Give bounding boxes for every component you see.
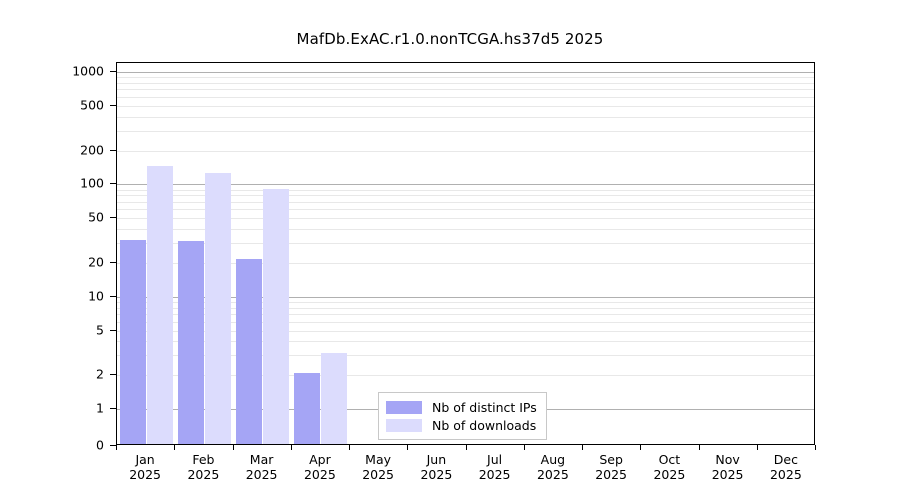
x-tick-year: 2025 — [362, 467, 394, 482]
x-tick-label: Dec2025 — [770, 452, 802, 482]
y-tick-label: 2 — [96, 367, 104, 382]
legend-item-downloads: Nb of downloads — [386, 416, 537, 434]
x-tick-mark — [233, 445, 234, 450]
x-tick-label: Jun2025 — [420, 452, 452, 482]
x-tick-mark — [174, 445, 175, 450]
x-tick-label: Sep2025 — [595, 452, 627, 482]
y-tick-label: 10 — [88, 288, 104, 303]
x-tick-year: 2025 — [420, 467, 452, 482]
gridline — [117, 83, 814, 84]
x-tick-mark — [291, 445, 292, 450]
y-tick-label: 200 — [80, 142, 104, 157]
gridline — [117, 72, 814, 73]
bar-ips-mar — [236, 259, 262, 445]
y-tick-label: 1000 — [72, 64, 104, 79]
gridline — [117, 77, 814, 78]
y-tick-label: 100 — [80, 176, 104, 191]
x-tick-month: Apr — [309, 452, 331, 467]
x-tick-month: Feb — [192, 452, 214, 467]
y-tick-label: 5 — [96, 322, 104, 337]
gridline — [117, 131, 814, 132]
x-tick-year: 2025 — [187, 467, 219, 482]
y-tick-label: 20 — [88, 254, 104, 269]
legend-label-downloads: Nb of downloads — [432, 418, 536, 433]
x-tick-month: May — [365, 452, 391, 467]
y-tick-label: 500 — [80, 97, 104, 112]
gridline — [117, 106, 814, 107]
y-tick-label: 50 — [88, 210, 104, 225]
x-tick-label: Nov2025 — [712, 452, 744, 482]
gridline — [117, 117, 814, 118]
x-tick-year: 2025 — [246, 467, 278, 482]
x-tick-label: Apr2025 — [304, 452, 336, 482]
y-axis-tick-labels: 01251020501002005001000 — [0, 0, 104, 500]
x-tick-label: Jan2025 — [129, 452, 161, 482]
bar-ips-jan — [120, 240, 146, 445]
x-tick-label: Jul2025 — [479, 452, 511, 482]
x-tick-month: Mar — [250, 452, 274, 467]
x-tick-mark — [757, 445, 758, 450]
x-tick-mark — [524, 445, 525, 450]
x-tick-mark — [407, 445, 408, 450]
y-tick-label: 0 — [96, 438, 104, 453]
gridline — [117, 151, 814, 152]
bar-downloads-feb — [205, 173, 231, 444]
x-tick-month: Dec — [774, 452, 798, 467]
x-tick-label: Mar2025 — [246, 452, 278, 482]
x-tick-mark — [116, 445, 117, 450]
bar-ips-feb — [178, 241, 204, 444]
chart-title: MafDb.ExAC.r1.0.nonTCGA.hs37d5 2025 — [0, 30, 900, 48]
x-tick-label: Feb2025 — [187, 452, 219, 482]
chart-figure: MafDb.ExAC.r1.0.nonTCGA.hs37d5 2025 0125… — [0, 0, 900, 500]
x-tick-year: 2025 — [304, 467, 336, 482]
bar-downloads-mar — [263, 189, 289, 444]
x-tick-label: Aug2025 — [537, 452, 569, 482]
x-tick-mark — [815, 445, 816, 450]
chart-legend: Nb of distinct IPs Nb of downloads — [378, 392, 547, 440]
legend-item-ips: Nb of distinct IPs — [386, 398, 537, 416]
x-tick-year: 2025 — [129, 467, 161, 482]
x-tick-mark — [466, 445, 467, 450]
x-tick-month: Jun — [427, 452, 447, 467]
plot-area — [116, 62, 815, 445]
x-tick-mark — [699, 445, 700, 450]
gridline — [117, 97, 814, 98]
x-tick-mark — [640, 445, 641, 450]
x-tick-year: 2025 — [712, 467, 744, 482]
legend-swatch-ips — [386, 401, 422, 414]
x-tick-mark — [349, 445, 350, 450]
x-tick-year: 2025 — [479, 467, 511, 482]
gridline — [117, 89, 814, 90]
legend-label-ips: Nb of distinct IPs — [432, 400, 537, 415]
x-tick-month: Jan — [135, 452, 154, 467]
legend-swatch-downloads — [386, 419, 422, 432]
y-tick-label: 1 — [96, 401, 104, 416]
bar-downloads-jan — [147, 166, 173, 444]
x-tick-label: May2025 — [362, 452, 394, 482]
x-tick-year: 2025 — [653, 467, 685, 482]
x-tick-label: Oct2025 — [653, 452, 685, 482]
bar-ips-apr — [294, 373, 320, 444]
x-tick-month: Sep — [599, 452, 623, 467]
x-tick-month: Nov — [715, 452, 739, 467]
x-tick-month: Jul — [487, 452, 502, 467]
x-tick-year: 2025 — [595, 467, 627, 482]
x-tick-month: Oct — [659, 452, 681, 467]
x-tick-mark — [582, 445, 583, 450]
bar-downloads-apr — [321, 353, 347, 444]
x-tick-year: 2025 — [537, 467, 569, 482]
x-tick-month: Aug — [541, 452, 565, 467]
x-tick-year: 2025 — [770, 467, 802, 482]
